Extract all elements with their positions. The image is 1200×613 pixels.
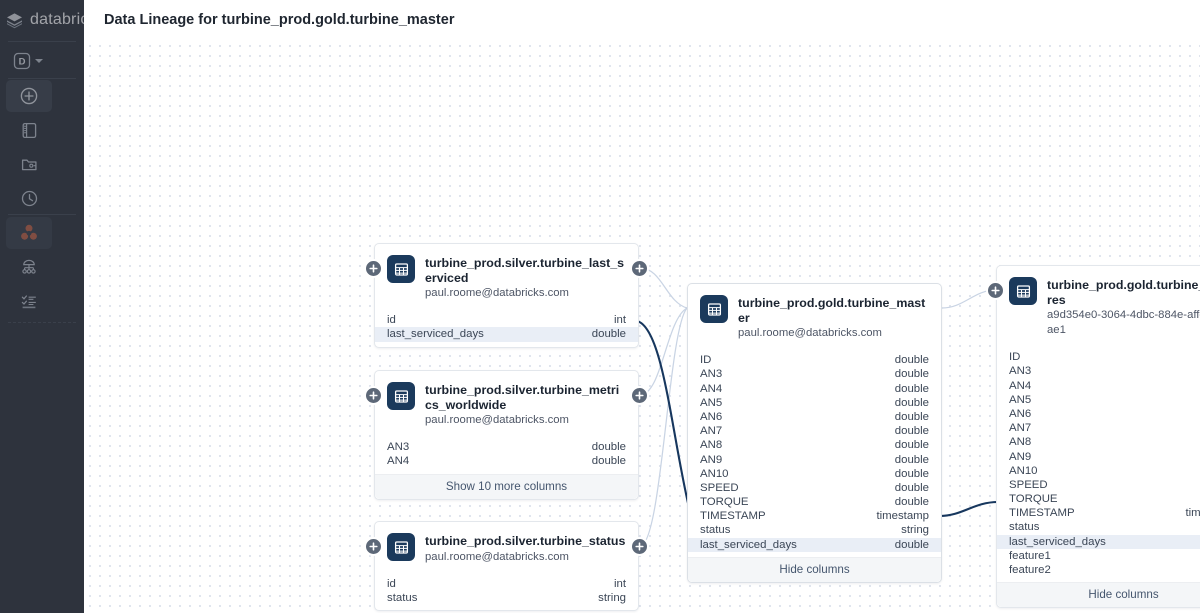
node-subtitle: paul.roome@databricks.com (738, 326, 929, 341)
column-name: AN3 (387, 440, 409, 454)
node-column-row[interactable]: statusstring (997, 520, 1200, 534)
node-column-row[interactable]: feature2double (997, 563, 1200, 577)
node-footer-toggle[interactable]: Show 10 more columns (375, 474, 638, 499)
node-subtitle: paul.roome@databricks.com (425, 413, 626, 428)
column-name: last_serviced_days (700, 538, 797, 552)
node-header: turbine_prod.silver.turbine_last_service… (375, 244, 638, 310)
node-column-row[interactable]: AN10double (997, 464, 1200, 478)
column-type: double (895, 481, 929, 495)
node-name[interactable]: turbine_prod.silver.turbine_status (425, 534, 625, 549)
expand-downstream-button[interactable] (632, 261, 647, 276)
node-footer-toggle[interactable]: Hide columns (688, 557, 941, 582)
node-titles: turbine_prod.silver.turbine_metrics_worl… (425, 382, 626, 428)
node-column-row[interactable]: feature1double (997, 549, 1200, 563)
node-column-list: IDdoubleAN3doubleAN4doubleAN5doubleAN6do… (688, 350, 941, 557)
node-column-row[interactable]: AN8double (997, 435, 1200, 449)
column-name: AN3 (700, 367, 722, 381)
table-grid-icon (387, 533, 415, 561)
node-column-row[interactable]: TIMESTAMPtimestamp (997, 506, 1200, 520)
expand-upstream-button[interactable] (366, 261, 381, 276)
node-titles: turbine_prod.gold.turbine_featuresa9d354… (1047, 277, 1200, 338)
node-column-row[interactable]: last_serviced_daysdouble (375, 327, 638, 341)
column-type: timestamp (876, 509, 929, 523)
node-column-row[interactable]: SPEEDdouble (688, 481, 941, 495)
column-name: AN8 (1009, 435, 1031, 449)
column-name: AN10 (1009, 464, 1038, 478)
node-footer-toggle[interactable]: Hide columns (997, 582, 1200, 607)
column-type: double (895, 367, 929, 381)
expand-upstream-button[interactable] (988, 283, 1003, 298)
lineage-edge (637, 321, 691, 516)
lineage-modal: Data Lineage for turbine_prod.gold.turbi… (84, 0, 1200, 613)
node-column-row[interactable]: TORQUEdouble (688, 495, 941, 509)
column-type: string (901, 523, 929, 537)
column-name: ID (1009, 350, 1020, 364)
node-column-row[interactable]: statusstring (688, 523, 941, 537)
column-name: AN5 (1009, 393, 1031, 407)
node-column-row[interactable]: AN9double (688, 453, 941, 467)
column-type: int (614, 313, 626, 327)
column-name: feature1 (1009, 549, 1051, 563)
lineage-node-gold_turbine_master[interactable]: turbine_prod.gold.turbine_masterpaul.roo… (687, 283, 942, 583)
node-column-row[interactable]: AN6double (997, 407, 1200, 421)
column-name: AN6 (700, 410, 722, 424)
table-grid-icon (387, 255, 415, 283)
lineage-screen: Data Catalog Data databricks (0, 0, 1200, 613)
column-name: id (387, 313, 396, 327)
column-name: AN5 (700, 396, 722, 410)
column-name: AN7 (1009, 421, 1031, 435)
column-name: TIMESTAMP (700, 509, 766, 523)
node-column-row[interactable]: AN3double (688, 367, 941, 381)
lineage-node-silver_metrics_worldwide[interactable]: turbine_prod.silver.turbine_metrics_worl… (374, 370, 639, 500)
column-type: double (895, 538, 929, 552)
node-column-list: idintlast_serviced_daysdouble (375, 310, 638, 346)
column-type: double (895, 495, 929, 509)
node-column-row[interactable]: AN5double (997, 393, 1200, 407)
node-column-row[interactable]: AN4double (688, 382, 941, 396)
node-column-list: AN3doubleAN4double (375, 437, 638, 473)
expand-upstream-button[interactable] (366, 539, 381, 554)
node-titles: turbine_prod.silver.turbine_last_service… (425, 255, 626, 301)
column-name: id (387, 577, 396, 591)
column-type: double (895, 453, 929, 467)
node-column-row[interactable]: AN4double (375, 454, 638, 468)
column-name: status (1009, 520, 1039, 534)
lineage-edge (640, 268, 687, 308)
page-title: Data Lineage for turbine_prod.gold.turbi… (104, 12, 454, 28)
column-name: TORQUE (700, 495, 749, 509)
column-type: double (592, 440, 626, 454)
lineage-canvas[interactable]: turbine_prod.silver.turbine_last_service… (84, 40, 1200, 613)
lineage-node-silver_status[interactable]: turbine_prod.silver.turbine_statuspaul.r… (374, 521, 639, 611)
column-type: double (895, 396, 929, 410)
node-column-list: idintstatusstring (375, 574, 638, 610)
column-name: AN6 (1009, 407, 1031, 421)
node-name[interactable]: turbine_prod.gold.turbine_features (1047, 278, 1200, 307)
column-name: AN9 (700, 453, 722, 467)
node-column-row[interactable]: AN7double (997, 421, 1200, 435)
node-column-row[interactable]: AN6double (688, 410, 941, 424)
table-grid-icon (1009, 277, 1037, 305)
node-titles: turbine_prod.silver.turbine_statuspaul.r… (425, 533, 625, 565)
node-subtitle: a9d354e0-3064-4dbc-884e-affee1d77ae1 (1047, 308, 1200, 338)
node-header: turbine_prod.gold.turbine_featuresa9d354… (997, 266, 1200, 347)
node-column-row[interactable]: IDdouble (688, 353, 941, 367)
node-column-row[interactable]: AN7double (688, 424, 941, 438)
node-subtitle: paul.roome@databricks.com (425, 286, 626, 301)
node-column-row[interactable]: AN5double (688, 396, 941, 410)
lineage-edge (940, 502, 998, 516)
node-column-row[interactable]: last_serviced_daysdouble (688, 538, 941, 552)
column-name: ID (700, 353, 711, 367)
column-name: AN7 (700, 424, 722, 438)
node-titles: turbine_prod.gold.turbine_masterpaul.roo… (738, 295, 929, 341)
expand-upstream-button[interactable] (366, 388, 381, 403)
node-column-row[interactable]: last_serviced_daysdouble (997, 535, 1200, 549)
column-type: double (895, 467, 929, 481)
column-name: status (700, 523, 730, 537)
column-type: string (598, 591, 626, 605)
column-name: feature2 (1009, 563, 1051, 577)
node-column-row[interactable]: AN9double (997, 450, 1200, 464)
column-name: last_serviced_days (387, 327, 484, 341)
node-column-row[interactable]: AN8double (688, 438, 941, 452)
node-column-row[interactable]: IDdouble (997, 350, 1200, 364)
column-name: AN4 (1009, 379, 1031, 393)
node-column-row[interactable]: AN4double (997, 379, 1200, 393)
node-column-row[interactable]: AN3double (997, 364, 1200, 378)
column-type: double (895, 353, 929, 367)
column-type: double (895, 382, 929, 396)
column-name: SPEED (1009, 478, 1048, 492)
table-grid-icon (700, 295, 728, 323)
column-type: double (895, 424, 929, 438)
node-header: turbine_prod.silver.turbine_statuspaul.r… (375, 522, 638, 574)
node-column-row[interactable]: TIMESTAMPtimestamp (688, 509, 941, 523)
column-name: last_serviced_days (1009, 535, 1106, 549)
column-name: status (387, 591, 417, 605)
node-column-row[interactable]: TORQUEdouble (997, 492, 1200, 506)
node-column-row[interactable]: idint (375, 577, 638, 591)
node-subtitle: paul.roome@databricks.com (425, 550, 625, 565)
column-name: AN9 (1009, 450, 1031, 464)
node-name[interactable]: turbine_prod.gold.turbine_master (738, 296, 929, 325)
lineage-node-gold_turbine_features[interactable]: turbine_prod.gold.turbine_featuresa9d354… (996, 265, 1200, 608)
node-column-row[interactable]: AN10double (688, 467, 941, 481)
node-header: turbine_prod.gold.turbine_masterpaul.roo… (688, 284, 941, 350)
node-column-row[interactable]: SPEEDdouble (997, 478, 1200, 492)
column-name: AN10 (700, 467, 729, 481)
column-name: AN4 (387, 454, 409, 468)
lineage-edge (640, 308, 687, 546)
expand-downstream-button[interactable] (632, 539, 647, 554)
node-column-list: IDdoubleAN3doubleAN4doubleAN5doubleAN6do… (997, 347, 1200, 582)
column-type: double (592, 327, 626, 341)
column-type: int (614, 577, 626, 591)
column-type: double (895, 410, 929, 424)
lineage-node-silver_last_serviced[interactable]: turbine_prod.silver.turbine_last_service… (374, 243, 639, 348)
node-header: turbine_prod.silver.turbine_metrics_worl… (375, 371, 638, 437)
column-name: TORQUE (1009, 492, 1058, 506)
node-column-row[interactable]: statusstring (375, 591, 638, 605)
column-type: double (592, 454, 626, 468)
expand-downstream-button[interactable] (632, 388, 647, 403)
table-grid-icon (387, 382, 415, 410)
column-name: TIMESTAMP (1009, 506, 1075, 520)
node-column-row[interactable]: AN3double (375, 440, 638, 454)
column-type: timestamp (1185, 506, 1200, 520)
column-name: AN3 (1009, 364, 1031, 378)
column-name: SPEED (700, 481, 739, 495)
column-name: AN8 (700, 438, 722, 452)
column-name: AN4 (700, 382, 722, 396)
node-name[interactable]: turbine_prod.silver.turbine_last_service… (425, 256, 626, 285)
lineage-modal-header: Data Lineage for turbine_prod.gold.turbi… (84, 0, 1200, 40)
column-type: double (895, 438, 929, 452)
node-name[interactable]: turbine_prod.silver.turbine_metrics_worl… (425, 383, 626, 412)
lineage-edge (640, 308, 687, 395)
node-column-row[interactable]: idint (375, 313, 638, 327)
